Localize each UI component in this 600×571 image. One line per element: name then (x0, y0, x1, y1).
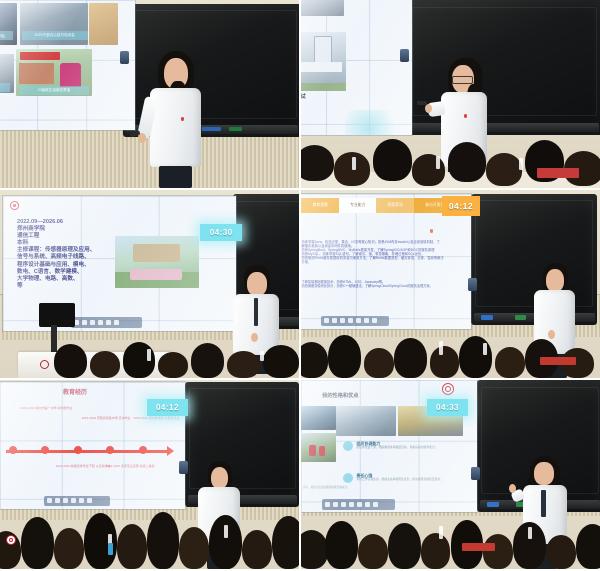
screen-mount (400, 49, 409, 62)
projection-screen: 子考试 国家考试 (301, 0, 412, 135)
screen-glare (3, 196, 236, 331)
screen-mount (179, 461, 188, 474)
screen-mount (471, 467, 480, 480)
panel-bottom-left: 教育经历 2013-2016 郑州市第一中学 初中部毕业 2016-2019 河… (0, 380, 299, 569)
photo-collage: 培训会 2023干部办公技巧培训会 会 23级新生适新名誉者 (0, 0, 600, 571)
podium-logo-icon (6, 535, 16, 545)
audience (301, 128, 600, 188)
panel-bottom-right: 我的性格和优点 组织协调能力 担任学生会干部，组织策划多项校园活动，具备良好的统… (301, 380, 600, 569)
screen-glare (0, 0, 135, 130)
panel-top-left: 培训会 2023干部办公技巧培训会 会 23级新生适新名誉者 (0, 0, 299, 188)
countdown-timer: 04:12 (147, 399, 189, 416)
countdown-timer: 04:30 (200, 224, 242, 241)
panel-middle-right: 教育背景 专业能力 荣获奖项 参与开发项目 熟练掌握Java、包括泛型、集合、I… (301, 190, 600, 378)
audience (0, 337, 299, 378)
audience (301, 327, 600, 378)
eyeglasses (452, 76, 473, 83)
panel-top-right: 子考试 国家考试 (301, 0, 600, 188)
audience (301, 510, 600, 569)
screen-mount (120, 51, 129, 64)
panel-middle-left: 2022.09—2026.06 郑州商学院 通信工程 本科 主修课程：传感器原理… (0, 190, 299, 378)
projector-unit (39, 303, 75, 327)
countdown-timer: 04:12 (442, 196, 481, 217)
audience (0, 501, 299, 569)
presenter-figure (132, 51, 222, 188)
laser-pointer (417, 101, 427, 105)
projection-screen: 培训会 2023干部办公技巧培训会 会 23级新生适新名誉者 (0, 0, 135, 130)
screen-glare (301, 0, 412, 135)
countdown-timer: 04:33 (427, 399, 469, 416)
screen-mount (468, 278, 477, 291)
projection-screen: 2022.09—2026.06 郑州商学院 通信工程 本科 主修课程：传感器原理… (3, 196, 236, 331)
